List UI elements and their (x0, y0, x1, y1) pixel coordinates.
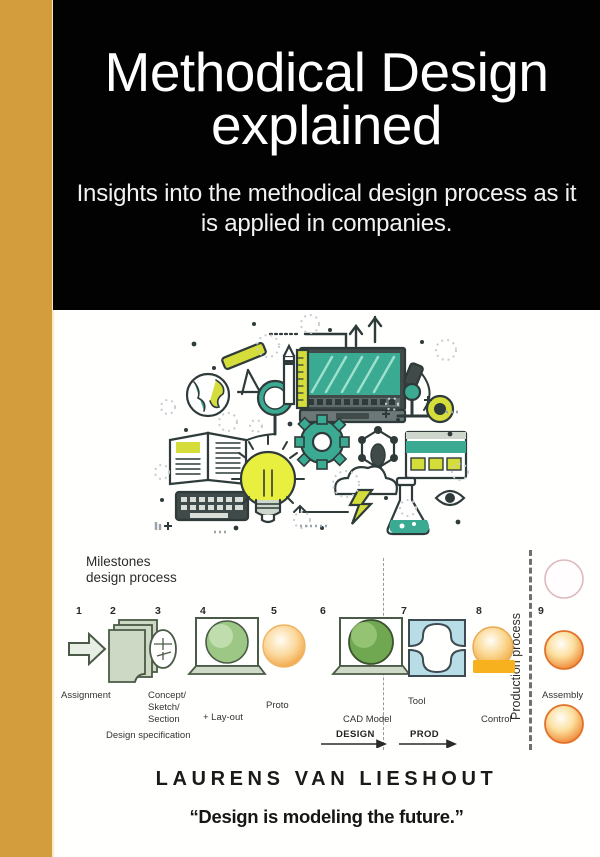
book-icon (170, 433, 246, 484)
spine-band (0, 0, 52, 857)
laptop-green-sphere-icon (189, 618, 265, 674)
keyboard-icon (176, 492, 248, 520)
illustration-svg (150, 312, 470, 542)
globe-icon (187, 374, 229, 416)
subtitle: Insights into the methodical design proc… (74, 179, 579, 240)
laptop-icon (300, 348, 405, 422)
diagram-graphics (53, 548, 600, 748)
flow-arrows (321, 741, 455, 748)
arrow-right-icon (69, 634, 105, 664)
flow-label-prod: PROD (410, 729, 439, 740)
milestone-caption-9: Assembly (542, 690, 583, 702)
illustration-collage (150, 312, 470, 542)
milestone-caption-5: Proto (266, 700, 289, 712)
eye-icon (436, 491, 464, 505)
gear-icon (295, 415, 349, 469)
cover-quote: “Design is modeling the future.” (53, 806, 600, 828)
milestones-diagram: Milestones design process 1 2 3 4 5 6 7 … (53, 548, 600, 763)
page-title: Methodical Design explained (53, 46, 600, 153)
mould-tool-icon (409, 620, 465, 676)
milestone-caption-3: Concept/ Sketch/ Section (148, 690, 194, 726)
book-cover: Methodical Design explained Insights int… (0, 0, 600, 857)
milestone-caption-6: CAD Model (343, 714, 392, 726)
milestone-caption-1: Assignment (61, 690, 111, 702)
arrow-up-icon (305, 317, 381, 348)
sketch-oval-icon (150, 630, 176, 668)
flow-label-design: DESIGN (336, 729, 375, 740)
author-name: LAURENS VAN LIESHOUT (53, 768, 600, 791)
milestone-caption-8: Control (481, 714, 512, 726)
milestone-caption-7: Tool (408, 696, 425, 708)
orange-sphere-icon (263, 625, 305, 667)
pencil-icon (284, 346, 294, 404)
sphere-on-base-icon (473, 627, 515, 673)
laptop-dark-sphere-icon (333, 618, 409, 674)
header-block: Methodical Design explained Insights int… (53, 0, 600, 310)
ruler-icon (297, 350, 308, 408)
design-specification-label: Design specification (106, 730, 191, 742)
milestone-caption-4: + Lay-out (203, 712, 243, 724)
sphere-stack-icon (545, 560, 583, 743)
browser-window-icon (406, 432, 466, 478)
title-line-2: explained (53, 99, 600, 152)
